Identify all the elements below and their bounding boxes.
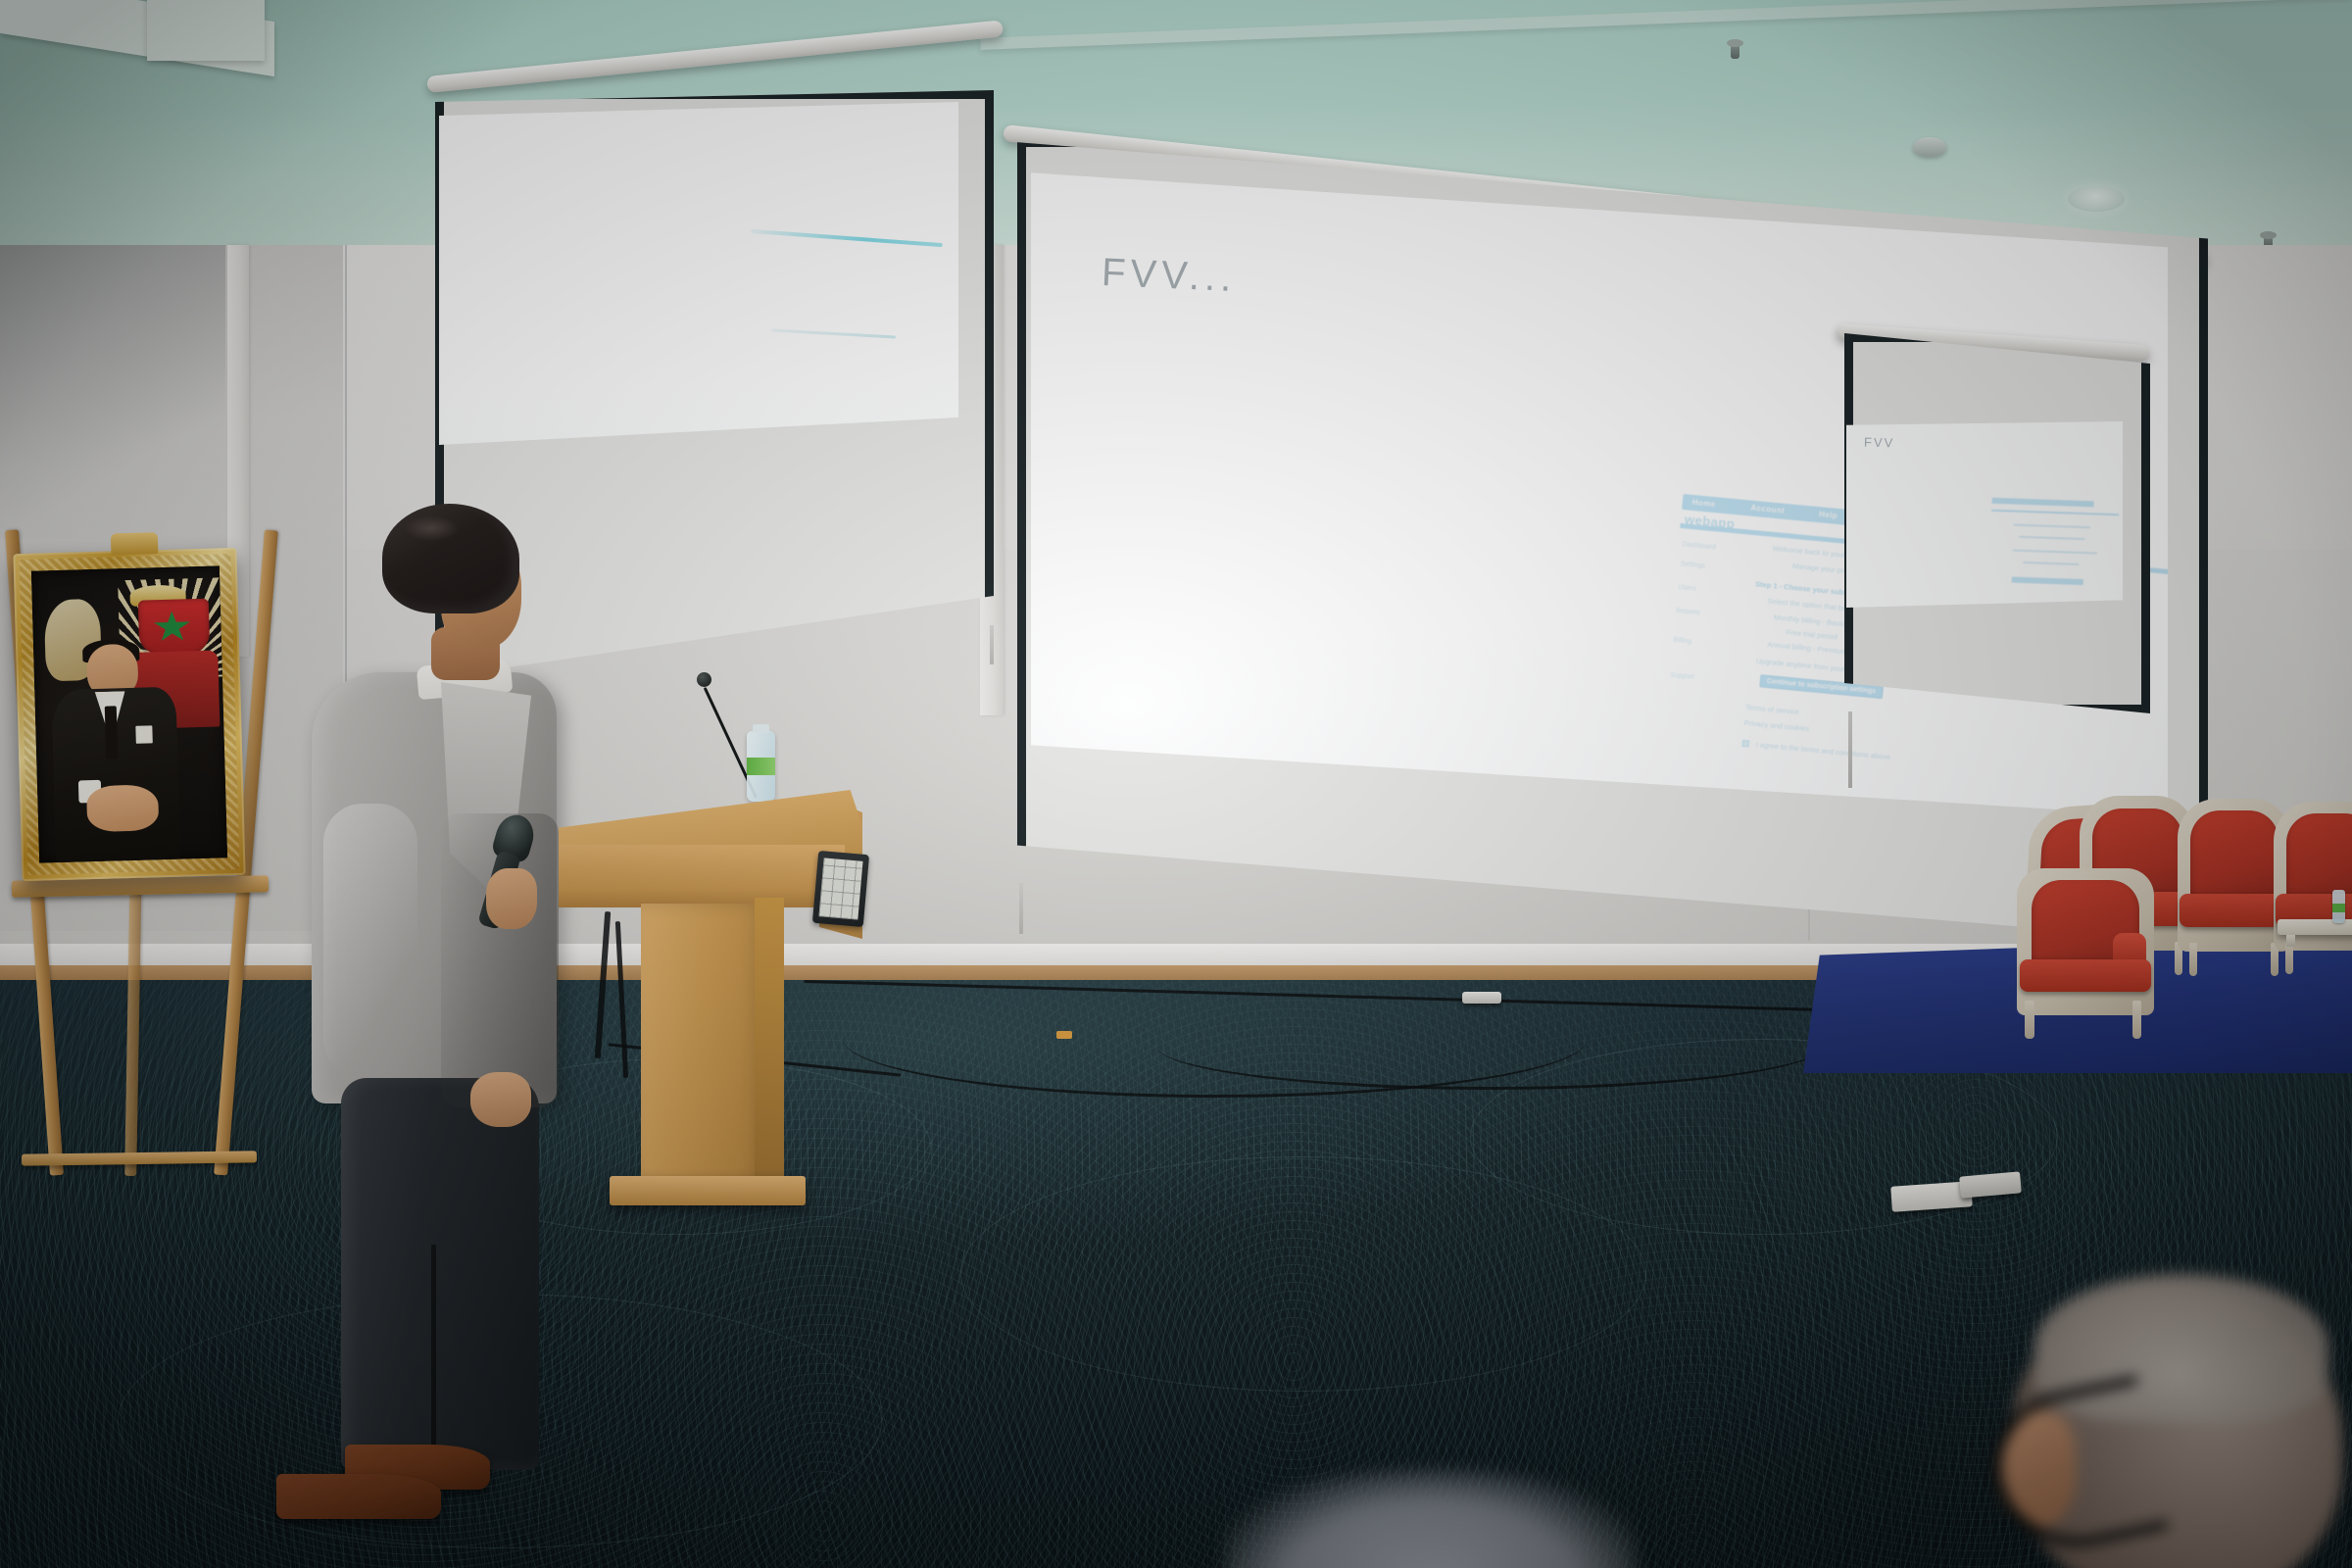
panel-sidebar-item-users: Users — [1678, 584, 1696, 593]
portrait-easel — [10, 529, 304, 1215]
panel-text-line — [2014, 523, 2090, 528]
conference-hall-photo: FVV... Home Account Help webapp Dashboar… — [0, 0, 2352, 1568]
slide-title: FVV... — [1101, 251, 1237, 301]
panel-sidebar-item-support: Support — [1669, 672, 1693, 681]
portrait-tie — [105, 706, 118, 759]
panel-text-line — [2023, 562, 2079, 565]
side-table-legs — [2284, 935, 2352, 947]
slide-accent-line-2 — [771, 328, 896, 338]
panel-divider-rule — [1991, 510, 2119, 516]
right-slide-title: FVV — [1864, 435, 1895, 451]
presenter-hair-highlight — [404, 515, 459, 541]
panel-sidebar-item-settings: Settings — [1680, 561, 1705, 569]
royal-portrait-frame — [13, 548, 245, 881]
slide-accent-line-1 — [751, 228, 943, 246]
panel-nav-home: Home — [1691, 498, 1716, 509]
portrait-hands — [86, 784, 159, 833]
chair-leg — [2025, 1001, 2034, 1039]
right-projection-screen: FVV — [1833, 323, 2254, 735]
panel-checkbox-label: I agree to the terms and conditions abov… — [1755, 741, 1890, 762]
av-cable — [1156, 1002, 1823, 1090]
presenter-hand-lower — [470, 1072, 531, 1127]
screen-support-left — [1019, 883, 1023, 934]
audience-front-row-attendee — [1950, 1264, 2352, 1568]
panel-nav-account: Account — [1750, 504, 1786, 515]
ceiling-beam-mid — [147, 0, 265, 61]
keypad-button-grid[interactable] — [818, 857, 862, 919]
presenter-shoe-front — [276, 1474, 441, 1519]
royal-portrait-image — [31, 565, 227, 862]
cable-marker — [1056, 1031, 1072, 1039]
panel-sidebar-item-reports: Reports — [1675, 608, 1699, 616]
panel-sidebar-item-dashboard: Dashboard — [1682, 542, 1716, 552]
easel-leg-rear — [124, 862, 142, 1176]
panel-text-line — [2018, 536, 2083, 540]
presenter-hand-holding-mic — [486, 868, 537, 929]
panel-text-line — [2012, 576, 2083, 585]
chair-back-cushion — [2190, 810, 2278, 899]
bottle-cap — [753, 724, 769, 733]
right-slide-surface: FVV — [1846, 421, 2123, 608]
chair-leg — [2189, 943, 2197, 976]
gooseneck-microphone-head — [697, 672, 711, 687]
chair-seat-cushion — [2180, 894, 2288, 927]
chair-leg — [2132, 1001, 2142, 1039]
screen-support-pole — [1848, 711, 1852, 788]
water-bottle — [2332, 890, 2345, 923]
chair-seat-cushion — [2020, 959, 2151, 992]
lectern-control-keypad[interactable] — [812, 851, 869, 927]
bottle-label — [747, 758, 775, 774]
stage-chair-foreground — [2017, 868, 2154, 1015]
panel-checkbox — [1741, 740, 1749, 748]
presenter-trousers — [341, 1078, 539, 1470]
lectern-base — [610, 1176, 806, 1205]
chair-back-cushion — [2286, 813, 2352, 900]
panel-text-line — [2013, 549, 2097, 554]
wall-left-shadow — [0, 245, 225, 539]
panel-footer-line-2: Privacy and cookies — [1743, 718, 1809, 733]
sprinkler-head-1 — [1731, 43, 1739, 59]
lectern-column — [641, 904, 766, 1198]
left-slide-surface — [439, 102, 958, 445]
right-slide-webapp-panel — [1988, 498, 2119, 595]
panel-sidebar-item-billing: Billing — [1673, 637, 1691, 646]
panel-footer-line-1: Terms of service — [1744, 703, 1798, 716]
portrait-pocket-square — [135, 725, 153, 743]
side-table-leg — [2286, 935, 2295, 947]
screen-support-right — [990, 625, 994, 664]
panel-topbar — [1991, 498, 2093, 508]
presenter-sleeve-highlight — [323, 804, 417, 1078]
presenter-trouser-seam — [431, 1245, 436, 1470]
lectern-column-edge — [755, 898, 784, 1200]
floor-connector-plate — [1462, 992, 1501, 1004]
panel-line-6: Free trial period — [1786, 628, 1837, 642]
lectern-front-face — [559, 845, 845, 907]
lectern-water-bottle — [747, 731, 775, 802]
